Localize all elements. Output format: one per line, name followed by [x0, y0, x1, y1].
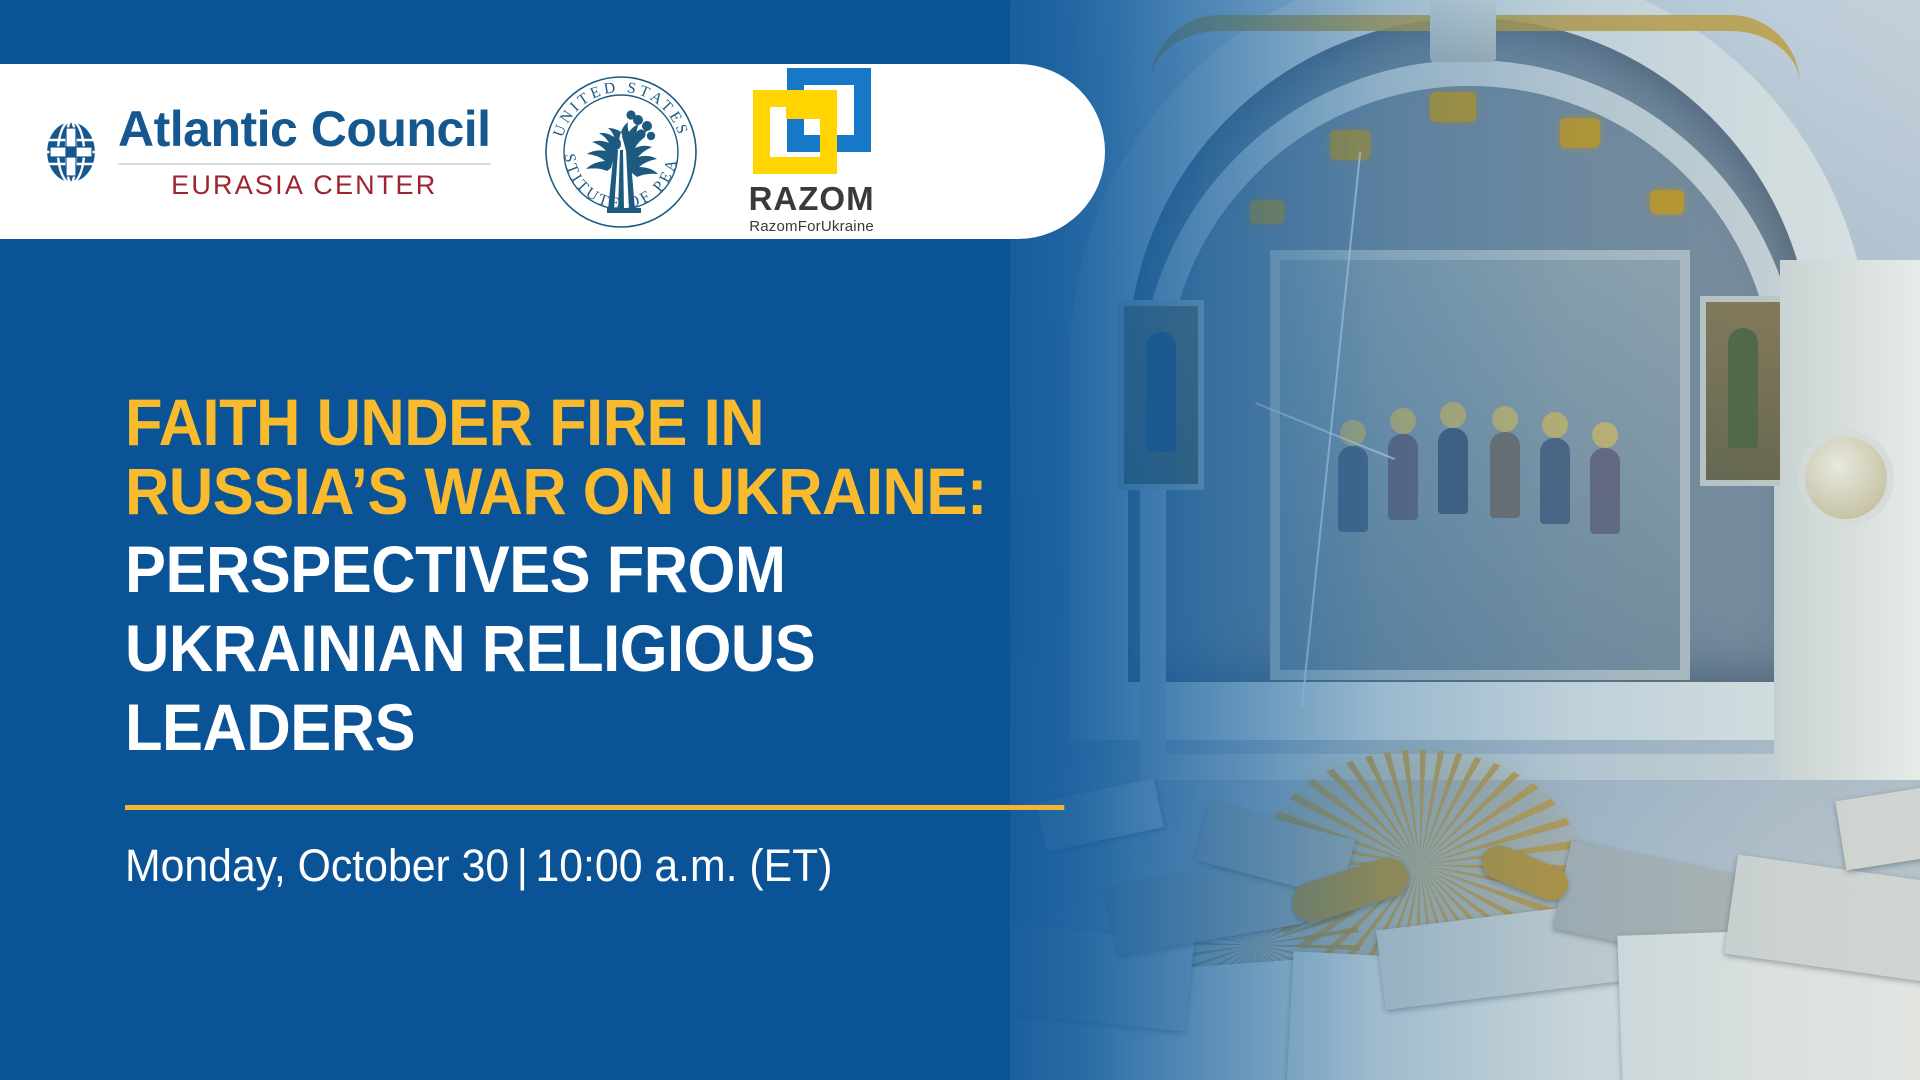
title-line-1: FAITH UNDER FIRE IN	[125, 388, 1074, 457]
svg-text:UNITED STATES: UNITED STATES	[550, 78, 692, 138]
event-date: Monday, October 30	[125, 840, 509, 891]
event-datetime: Monday, October 30|10:00 a.m. (ET)	[125, 840, 1094, 892]
eurasia-center-label: EURASIA CENTER	[118, 172, 491, 199]
logo-bar: Atlantic Council EURASIA CENTER UNITED S…	[0, 64, 1105, 239]
subtitle-line-3: LEADERS	[125, 693, 1074, 762]
subtitle-line-1: PERSPECTIVES FROM	[125, 535, 1074, 604]
subtitle-line-2: UKRAINIAN RELIGIOUS	[125, 614, 1074, 683]
title-line-2: RUSSIA’S WAR ON UKRAINE:	[125, 457, 1074, 526]
razom-logo: RAZOM RazomForUkraine	[749, 68, 875, 235]
atlantic-council-name: Atlantic Council	[118, 104, 491, 154]
logo-divider-rule	[118, 163, 491, 165]
globe-icon	[40, 119, 102, 185]
event-content: FAITH UNDER FIRE IN RUSSIA’S WAR ON UKRA…	[125, 388, 1145, 892]
datetime-separator: |	[509, 840, 535, 891]
event-time: 10:00 a.m. (ET)	[535, 840, 832, 891]
atlantic-council-logo: Atlantic Council EURASIA CENTER	[40, 104, 491, 199]
razom-interlock-notch	[786, 101, 820, 119]
usip-seal-icon: UNITED STATES INSTITUTE OF PEACE	[543, 74, 699, 230]
gold-divider-rule	[125, 805, 1064, 810]
razom-tagline: RazomForUkraine	[749, 218, 874, 235]
razom-interlocking-squares-icon	[753, 68, 871, 180]
razom-wordmark: RAZOM	[749, 182, 875, 215]
